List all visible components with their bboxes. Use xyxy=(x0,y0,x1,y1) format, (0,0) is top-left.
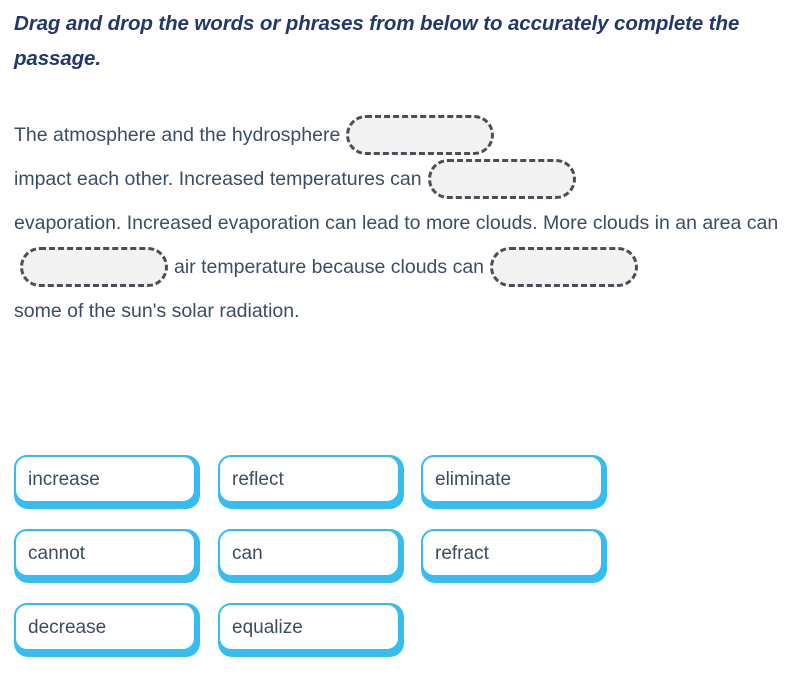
draggable-chip-reflect[interactable]: reflect xyxy=(218,455,404,509)
passage-text-1: The atmosphere and the hydrosphere xyxy=(14,124,340,146)
chip-surface: can xyxy=(218,529,400,577)
chip-surface: eliminate xyxy=(421,455,603,503)
chip-surface: decrease xyxy=(14,603,196,651)
answer-bank: increase reflect eliminate cannot xyxy=(14,455,774,677)
passage-body: The atmosphere and the hydrosphereimpact… xyxy=(14,113,789,333)
draggable-chip-can[interactable]: can xyxy=(218,529,404,583)
chip-surface: equalize xyxy=(218,603,400,651)
chip-surface: cannot xyxy=(14,529,196,577)
passage-text-2: impact each other. Increased temperature… xyxy=(14,168,422,190)
chip-label: reflect xyxy=(232,470,284,489)
draggable-chip-refract[interactable]: refract xyxy=(421,529,607,583)
chip-surface: increase xyxy=(14,455,196,503)
passage-text-5: some of the sun's solar radiation. xyxy=(14,300,300,322)
instruction-heading: Drag and drop the words or phrases from … xyxy=(14,6,774,76)
chip-surface: reflect xyxy=(218,455,400,503)
drag-drop-exercise: Drag and drop the words or phrases from … xyxy=(0,0,803,669)
chip-label: increase xyxy=(28,470,100,489)
draggable-chip-equalize[interactable]: equalize xyxy=(218,603,404,657)
draggable-chip-cannot[interactable]: cannot xyxy=(14,529,200,583)
answer-bank-row: cannot can refract xyxy=(14,529,774,603)
drop-slot-2[interactable] xyxy=(428,159,576,199)
passage-text-3: evaporation. Increased evaporation can l… xyxy=(14,212,778,234)
chip-label: eliminate xyxy=(435,470,511,489)
chip-label: equalize xyxy=(232,618,303,637)
drop-slot-1[interactable] xyxy=(346,115,494,155)
draggable-chip-eliminate[interactable]: eliminate xyxy=(421,455,607,509)
chip-label: decrease xyxy=(28,618,106,637)
draggable-chip-decrease[interactable]: decrease xyxy=(14,603,200,657)
chip-label: cannot xyxy=(28,544,85,563)
answer-bank-row: decrease equalize xyxy=(14,603,774,677)
drop-slot-3[interactable] xyxy=(20,247,168,287)
answer-bank-row: increase reflect eliminate xyxy=(14,455,774,529)
chip-label: can xyxy=(232,544,263,563)
drop-slot-4[interactable] xyxy=(490,247,638,287)
draggable-chip-increase[interactable]: increase xyxy=(14,455,200,509)
passage-text-4: air temperature because clouds can xyxy=(174,256,484,278)
chip-surface: refract xyxy=(421,529,603,577)
chip-label: refract xyxy=(435,544,489,563)
